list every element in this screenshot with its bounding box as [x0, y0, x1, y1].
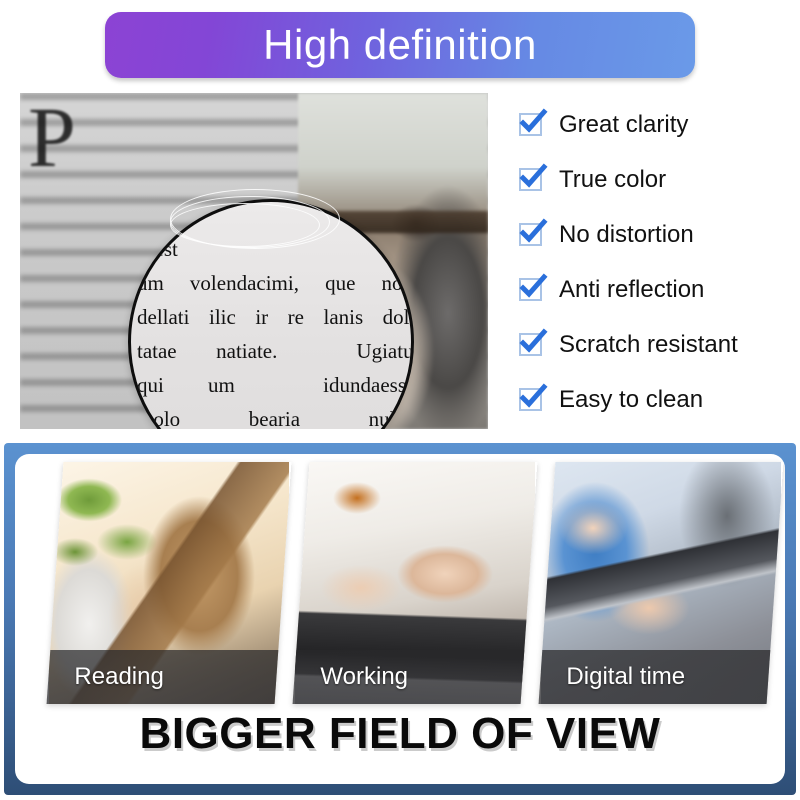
page-title: High definition — [263, 24, 537, 66]
feature-label: Great clarity — [559, 113, 688, 137]
feature-label: Anti reflection — [559, 278, 704, 302]
use-case-card[interactable]: Digital time — [539, 462, 784, 704]
use-case-caption: Digital time — [566, 665, 685, 689]
bigger-field-of-view-headline: BIGGER FIELD OF VIEW — [15, 712, 785, 756]
feature-item[interactable]: True color — [519, 152, 787, 207]
checkbox-checked-icon[interactable] — [519, 388, 542, 411]
feature-list: Great clarity True color No distortion — [519, 97, 787, 427]
magnified-text: orest pel um volendacimi, que nobis dell… — [137, 232, 414, 429]
feature-label: Easy to clean — [559, 388, 703, 412]
checkbox-checked-icon[interactable] — [519, 333, 542, 356]
feature-item[interactable]: Anti reflection — [519, 262, 787, 317]
drop-cap-letter: P — [28, 99, 76, 176]
feature-item[interactable]: No distortion — [519, 207, 787, 262]
use-case-card[interactable]: Working — [293, 462, 538, 704]
product-feature-page: High definition P orest pel um volendaci… — [0, 0, 800, 800]
checkbox-checked-icon[interactable] — [519, 168, 542, 191]
use-case-caption: Working — [320, 665, 408, 689]
checkbox-checked-icon[interactable] — [519, 113, 542, 136]
checkbox-checked-icon[interactable] — [519, 278, 542, 301]
use-case-card[interactable]: Reading — [47, 462, 292, 704]
feature-item[interactable]: Scratch resistant — [519, 317, 787, 372]
magnifier-lens: orest pel um volendacimi, que nobis dell… — [128, 199, 414, 429]
use-case-section-frame: Reading Working Digital time BIGGER F — [4, 443, 796, 795]
use-case-caption: Reading — [74, 665, 163, 689]
feature-item[interactable]: Great clarity — [519, 97, 787, 152]
feature-label: Scratch resistant — [559, 333, 738, 357]
checkbox-checked-icon[interactable] — [519, 223, 542, 246]
use-case-caption-bar: Digital time — [539, 650, 784, 704]
use-case-caption-bar: Working — [293, 650, 538, 704]
use-case-caption-bar: Reading — [47, 650, 292, 704]
feature-label: True color — [559, 168, 666, 192]
feature-label: No distortion — [559, 223, 694, 247]
header-banner: High definition — [105, 12, 695, 78]
use-case-section: Reading Working Digital time BIGGER F — [15, 454, 785, 784]
hero-product-photo: P orest pel um volendacimi, que nobis de… — [20, 93, 488, 429]
feature-item[interactable]: Easy to clean — [519, 372, 787, 427]
use-case-photo-strip: Reading Working Digital time — [15, 454, 785, 706]
